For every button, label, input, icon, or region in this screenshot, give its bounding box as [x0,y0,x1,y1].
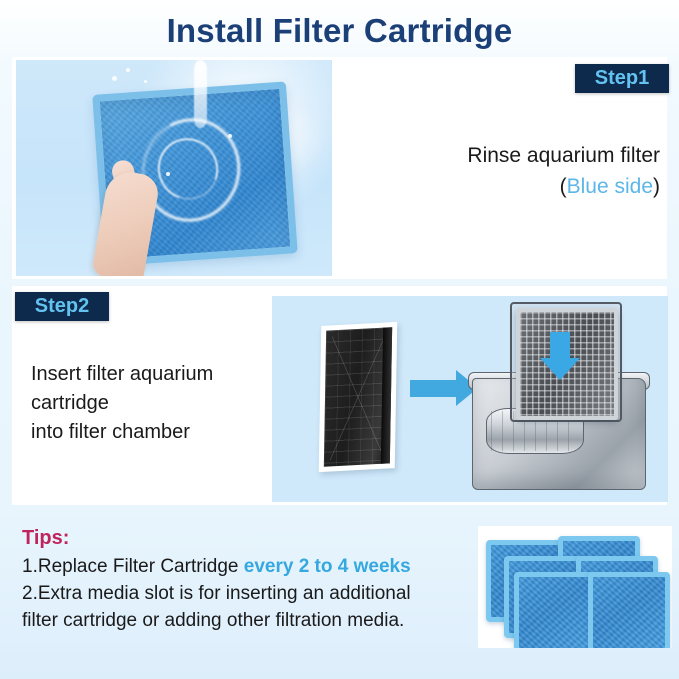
tips-item-2-line2: filter cartridge or adding other filtrat… [22,607,482,634]
step1-badge: Step1 [575,64,669,93]
step2-instruction-line1: Insert filter aquarium [31,363,213,385]
step2-instruction-line3: into filter chamber [31,421,190,443]
tips-heading: Tips: [22,527,482,550]
droplet-icon [166,172,170,176]
droplet-icon [144,80,147,83]
step1-photo [16,60,332,276]
tips-item-1: 1.Replace Filter Cartridge every 2 to 4 … [22,553,482,580]
tips-item-1-highlight: every 2 to 4 weeks [244,556,411,577]
droplet-icon [228,134,232,138]
step2-instruction-line2: cartridge [31,392,109,414]
step2-diagram [272,296,668,502]
product-instruction-page: Install Filter Cartridge Step1 Rinse aqu… [0,0,679,679]
carbon-spine-icon [381,327,392,464]
step1-instruction-line1: Rinse aquarium filter [467,144,660,167]
step1-paren-close: ) [653,175,660,198]
down-arrow-icon [550,332,570,358]
filter-pad-icon [588,572,670,648]
step2-badge: Step2 [15,292,109,321]
cartridge-pack-photo [478,526,672,648]
step1-paren-open: ( [560,175,567,198]
filter-pad-icon [514,572,596,648]
step1-instruction: Rinse aquarium filter (Blue side) [380,140,660,202]
right-arrow-icon [410,380,456,397]
droplet-icon [112,76,117,81]
step2-instruction: Insert filter aquarium cartridge into fi… [31,360,281,447]
page-title: Install Filter Cartridge [0,12,679,50]
tips-section: Tips: 1.Replace Filter Cartridge every 2… [22,527,482,634]
droplet-icon [126,68,130,72]
step1-instruction-highlight: Blue side [567,175,653,198]
carbon-cross-lines-icon [330,334,386,461]
tips-item-1-prefix: 1.Replace Filter Cartridge [22,556,244,577]
tips-item-2-line1: 2.Extra media slot is for inserting an a… [22,580,482,607]
carbon-cartridge-icon [319,322,398,472]
